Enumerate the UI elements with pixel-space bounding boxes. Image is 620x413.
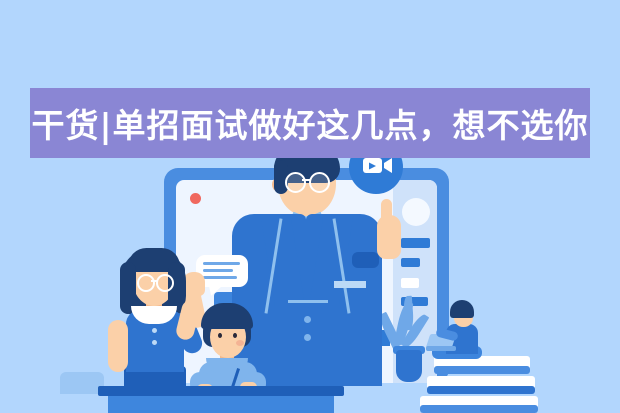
teacher-button	[304, 316, 311, 323]
book-spine	[420, 405, 538, 413]
teacher-vest-line	[288, 300, 328, 303]
avatar	[402, 198, 430, 226]
panel-bar	[401, 258, 420, 267]
desk-top	[98, 386, 344, 396]
monitor-record-dot-icon	[190, 193, 201, 204]
teacher-glasses-icon	[285, 172, 306, 193]
speech-bubble-line	[203, 276, 237, 279]
panel-bar	[401, 238, 430, 248]
book-spine	[427, 386, 535, 394]
woman-glasses-icon	[137, 274, 155, 292]
child-cheek	[236, 340, 244, 346]
teacher-glasses-icon	[309, 172, 330, 193]
woman-button	[152, 328, 157, 333]
woman-hand	[183, 272, 205, 296]
laptop-person-hair	[450, 300, 474, 318]
title-banner: 干货|单招面试做好这几点，想不选你	[30, 88, 590, 158]
child-eye	[218, 333, 222, 338]
woman-glasses-bridge	[151, 280, 157, 282]
teacher-button	[304, 334, 311, 341]
panel-bar	[401, 278, 419, 288]
desk-body	[108, 396, 334, 413]
woman-button	[152, 340, 157, 345]
woman-glasses-icon	[156, 274, 174, 292]
teacher-cuff	[352, 252, 379, 268]
teacher-pointing-finger	[381, 199, 392, 231]
teacher-pocket	[334, 281, 366, 288]
child-eye	[233, 333, 237, 338]
illustration	[0, 0, 620, 413]
woman-left-arm	[108, 320, 128, 372]
plant-pot	[396, 350, 422, 382]
teacher-glasses-bridge	[302, 179, 310, 181]
laptop-base	[426, 346, 456, 351]
page-title: 干货|单招面试做好这几点，想不选你	[31, 99, 588, 147]
screenshot-root: 干货|单招面试做好这几点，想不选你	[0, 0, 620, 413]
speech-bubble-line	[203, 262, 240, 265]
speech-bubble-line	[203, 269, 233, 272]
book-spine	[434, 366, 530, 374]
